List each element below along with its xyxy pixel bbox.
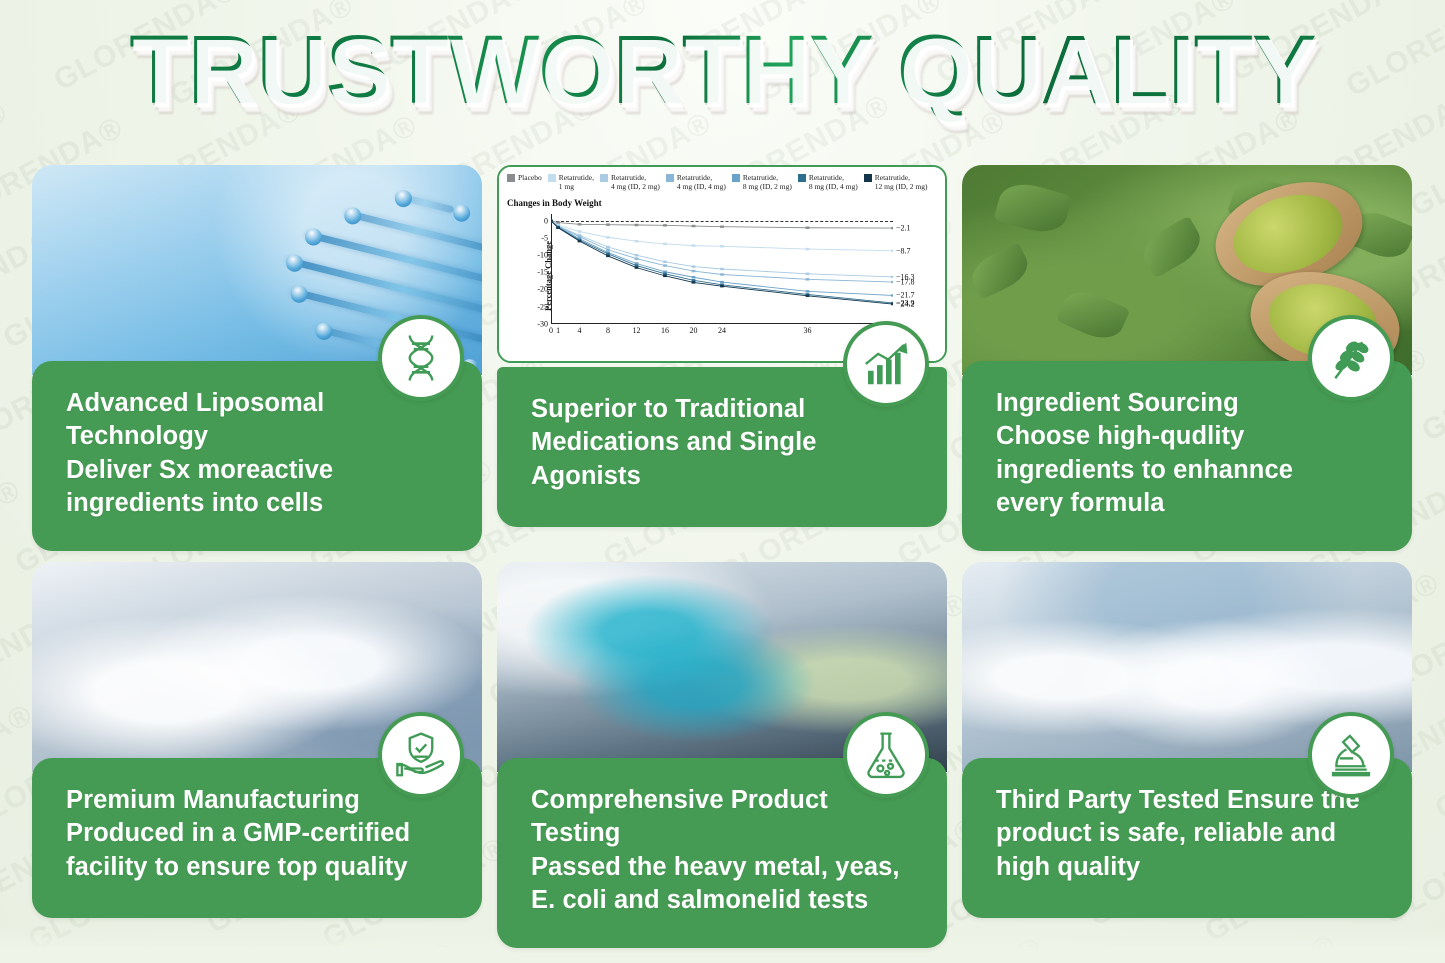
legend-label: Retatrutide,12 mg (ID, 2 mg) [875,173,928,192]
card-text-premium-manufacturing: Premium Manufacturing Produced in a GMP-… [66,784,436,884]
watermark-text: GLORENDA® [0,473,27,598]
legend-label: Retatrutide,4 mg (ID, 2 mg) [611,173,660,192]
leaf-branch-icon [1308,315,1394,401]
y-tick-label: -20 [537,285,548,294]
legend-label: Retatrutide,8 mg (ID, 2 mg) [743,173,792,192]
feature-card-comprehensive-product-testing: Comprehensive Product Testing Passed the… [497,562,947,926]
chart-legend-item: Placebo [507,173,542,192]
watermark-text: GLORENDA® [1417,324,1445,449]
series-end-label: −24.2 [896,299,915,308]
legend-swatch [798,174,806,182]
growth-chart-icon [843,321,929,407]
dna-icon [378,315,464,401]
card-body-superior-to-traditional-medications: Superior to Traditional Medications and … [497,367,947,527]
card-body-ingredient-sourcing: Ingredient Sourcing Choose high-qudlity … [962,361,1412,551]
card-text-advanced-liposomal-technology: Advanced Liposomal Technology Deliver Sx… [66,387,436,521]
feature-card-third-party-tested: Third Party Tested Ensure the product is… [962,562,1412,926]
card-body-third-party-tested: Third Party Tested Ensure the product is… [962,758,1412,918]
page-title: TRUSTWORTHY QUALITY [129,18,1315,123]
series-end-label: −8.7 [896,246,911,255]
x-tick-label: 16 [661,326,669,335]
feature-card-ingredient-sourcing: Ingredient Sourcing Choose high-qudlity … [962,165,1412,529]
page-title-container: TRUSTWORTHY QUALITY [0,18,1445,123]
card-body-premium-manufacturing: Premium Manufacturing Produced in a GMP-… [32,758,482,918]
hand-shield-check-icon [378,712,464,798]
legend-label: Placebo [518,173,542,182]
card-body-advanced-liposomal-technology: Advanced Liposomal Technology Deliver Sx… [32,361,482,551]
x-tick-label: 1 [556,326,560,335]
infographic-page: GLORENDA®GLORENDA®GLORENDA®GLORENDA®GLOR… [0,0,1445,963]
legend-label: Retatrutide,8 mg (ID, 4 mg) [809,173,858,192]
microscope-icon [1308,712,1394,798]
x-tick-label: 36 [804,326,812,335]
chart-legend-item: Retatrutide,8 mg (ID, 4 mg) [798,173,858,192]
chart-axes: 0-5-10-15-20-25-300148121620243648−2.1−8… [551,214,893,324]
x-tick-label: 20 [690,326,698,335]
feature-card-advanced-liposomal-technology: Advanced Liposomal Technology Deliver Sx… [32,165,482,529]
y-tick-label: -15 [537,268,548,277]
x-tick-label: 4 [578,326,582,335]
legend-swatch [864,174,872,182]
card-text-third-party-tested: Third Party Tested Ensure the product is… [996,784,1366,884]
feature-card-grid: Advanced Liposomal Technology Deliver Sx… [32,165,1415,926]
series-end-label: −17.8 [896,277,915,286]
chart-legend-item: Retatrutide,1 mg [548,173,594,192]
legend-swatch [732,174,740,182]
chart-lines [551,214,893,324]
chart-legend-item: Retatrutide,4 mg (ID, 4 mg) [666,173,726,192]
legend-swatch [548,174,556,182]
series-end-label: −2.1 [896,223,911,232]
x-tick-label: 12 [633,326,641,335]
x-tick-label: 24 [718,326,726,335]
watermark-text: GLORENDA® [1430,702,1445,827]
card-body-comprehensive-product-testing: Comprehensive Product Testing Passed the… [497,758,947,948]
feature-card-premium-manufacturing: Premium Manufacturing Produced in a GMP-… [32,562,482,926]
card-text-comprehensive-product-testing: Comprehensive Product Testing Passed the… [531,784,901,918]
legend-swatch [600,174,608,182]
chart-title: Changes in Body Weight [505,195,939,208]
feature-card-superior-to-traditional-medications: Placebo Retatrutide,1 mg Retatrutide,4 m… [497,165,947,529]
chart-legend-item: Retatrutide,4 mg (ID, 2 mg) [600,173,660,192]
y-tick-label: -10 [537,251,548,260]
chart-legend-item: Retatrutide,12 mg (ID, 2 mg) [864,173,928,192]
y-tick-label: -30 [537,319,548,328]
legend-swatch [666,174,674,182]
legend-label: Retatrutide,1 mg [559,173,594,192]
legend-label: Retatrutide,4 mg (ID, 4 mg) [677,173,726,192]
chart-legend-item: Retatrutide,8 mg (ID, 2 mg) [732,173,792,192]
x-tick-label: 0 [549,326,553,335]
flask-icon [843,712,929,798]
card-text-superior-to-traditional-medications: Superior to Traditional Medications and … [531,393,901,493]
card-text-ingredient-sourcing: Ingredient Sourcing Choose high-qudlity … [996,387,1366,521]
y-tick-label: -5 [541,233,548,242]
legend-swatch [507,174,515,182]
x-tick-label: 8 [606,326,610,335]
y-tick-label: -25 [537,302,548,311]
y-tick-label: 0 [544,216,548,225]
chart-legend: Placebo Retatrutide,1 mg Retatrutide,4 m… [505,171,939,195]
